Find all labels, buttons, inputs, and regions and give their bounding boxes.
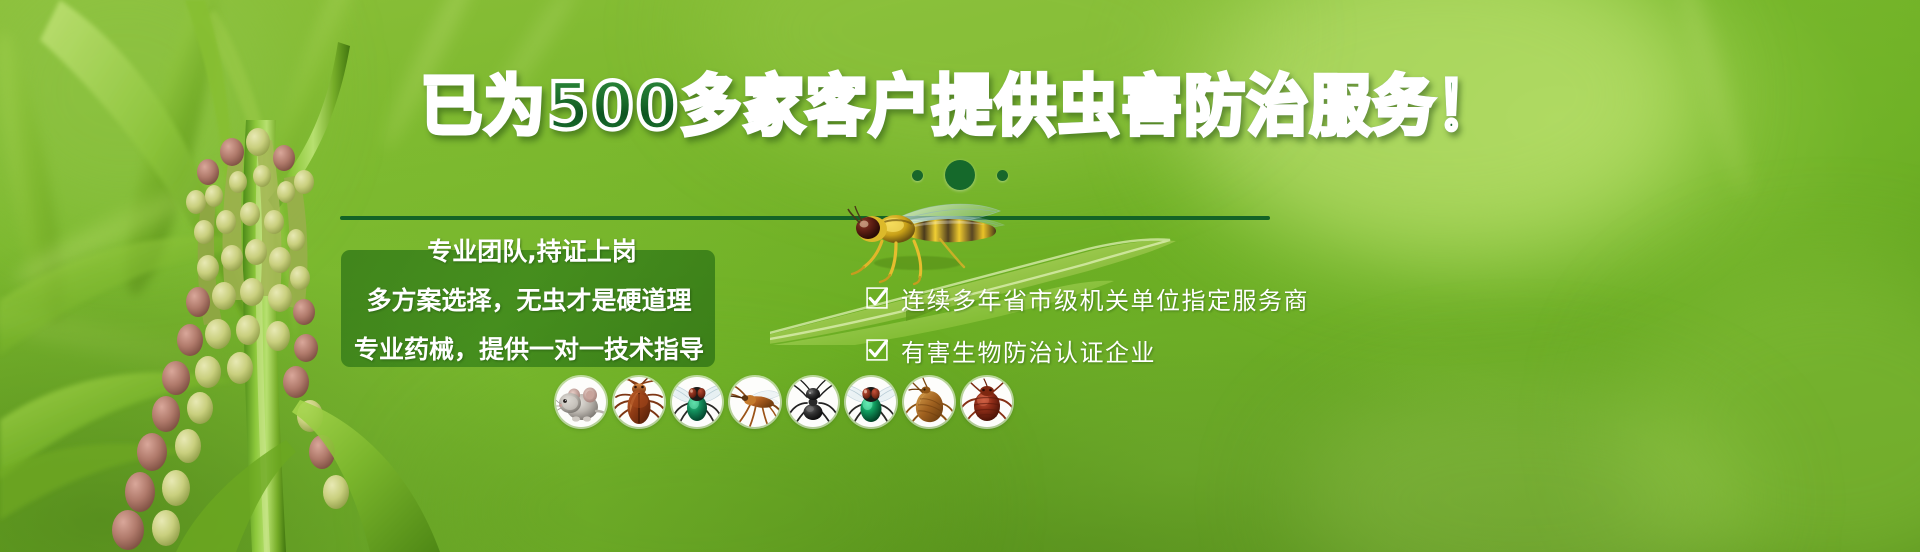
pest-circle-flea[interactable] <box>904 377 954 427</box>
headline-container: 已为500多家客户提供虫害防治服务！ <box>0 76 1920 137</box>
list-item-label: 连续多年省市级机关单位指定服务商 <box>901 281 1309 316</box>
pest-circle-ant[interactable] <box>788 377 838 427</box>
feature-line: 专业药械，提供一对一技术指导 <box>341 330 717 366</box>
feature-panel-text: 专业团队,持证上岗 多方案选择，无虫才是硬道理 专业药械，提供一对一技术指导 <box>341 212 717 372</box>
greenfly-icon <box>846 377 896 427</box>
checkbox-checked-icon <box>866 339 888 361</box>
mosquito-icon <box>730 377 780 427</box>
pest-circle-mosquito[interactable] <box>730 377 780 427</box>
pest-circle-mouse[interactable] <box>556 377 606 427</box>
dot-small-icon <box>912 170 923 181</box>
feature-line: 多方案选择，无虫才是硬道理 <box>341 281 717 317</box>
page-title: 已为500多家客户提供虫害防治服务！ <box>421 74 1499 139</box>
housefly-icon <box>672 377 722 427</box>
pest-circle-bedbug[interactable] <box>962 377 1012 427</box>
list-item: 连续多年省市级机关单位指定服务商 <box>866 272 1566 324</box>
list-item: 有害生物防治认证企业 <box>866 324 1566 376</box>
mouse-icon <box>556 377 606 427</box>
certification-list: 连续多年省市级机关单位指定服务商 有害生物防治认证企业 <box>866 272 1566 376</box>
pest-circle-greenfly[interactable] <box>846 377 896 427</box>
dot-small-icon <box>997 170 1008 181</box>
pest-circle-housefly[interactable] <box>672 377 722 427</box>
cockroach-icon <box>614 377 664 427</box>
ant-icon <box>788 377 838 427</box>
list-item-label: 有害生物防治认证企业 <box>901 333 1156 368</box>
pest-icon-row <box>556 377 1012 427</box>
feature-line: 专业团队,持证上岗 <box>341 232 717 268</box>
pest-circle-cockroach[interactable] <box>614 377 664 427</box>
bedbug-icon <box>962 377 1012 427</box>
promo-banner: 已为500多家客户提供虫害防治服务！ 专业团队,持证上岗 多方案选择，无虫才是硬… <box>0 0 1920 552</box>
flea-icon <box>904 377 954 427</box>
checkbox-checked-icon <box>866 287 888 309</box>
